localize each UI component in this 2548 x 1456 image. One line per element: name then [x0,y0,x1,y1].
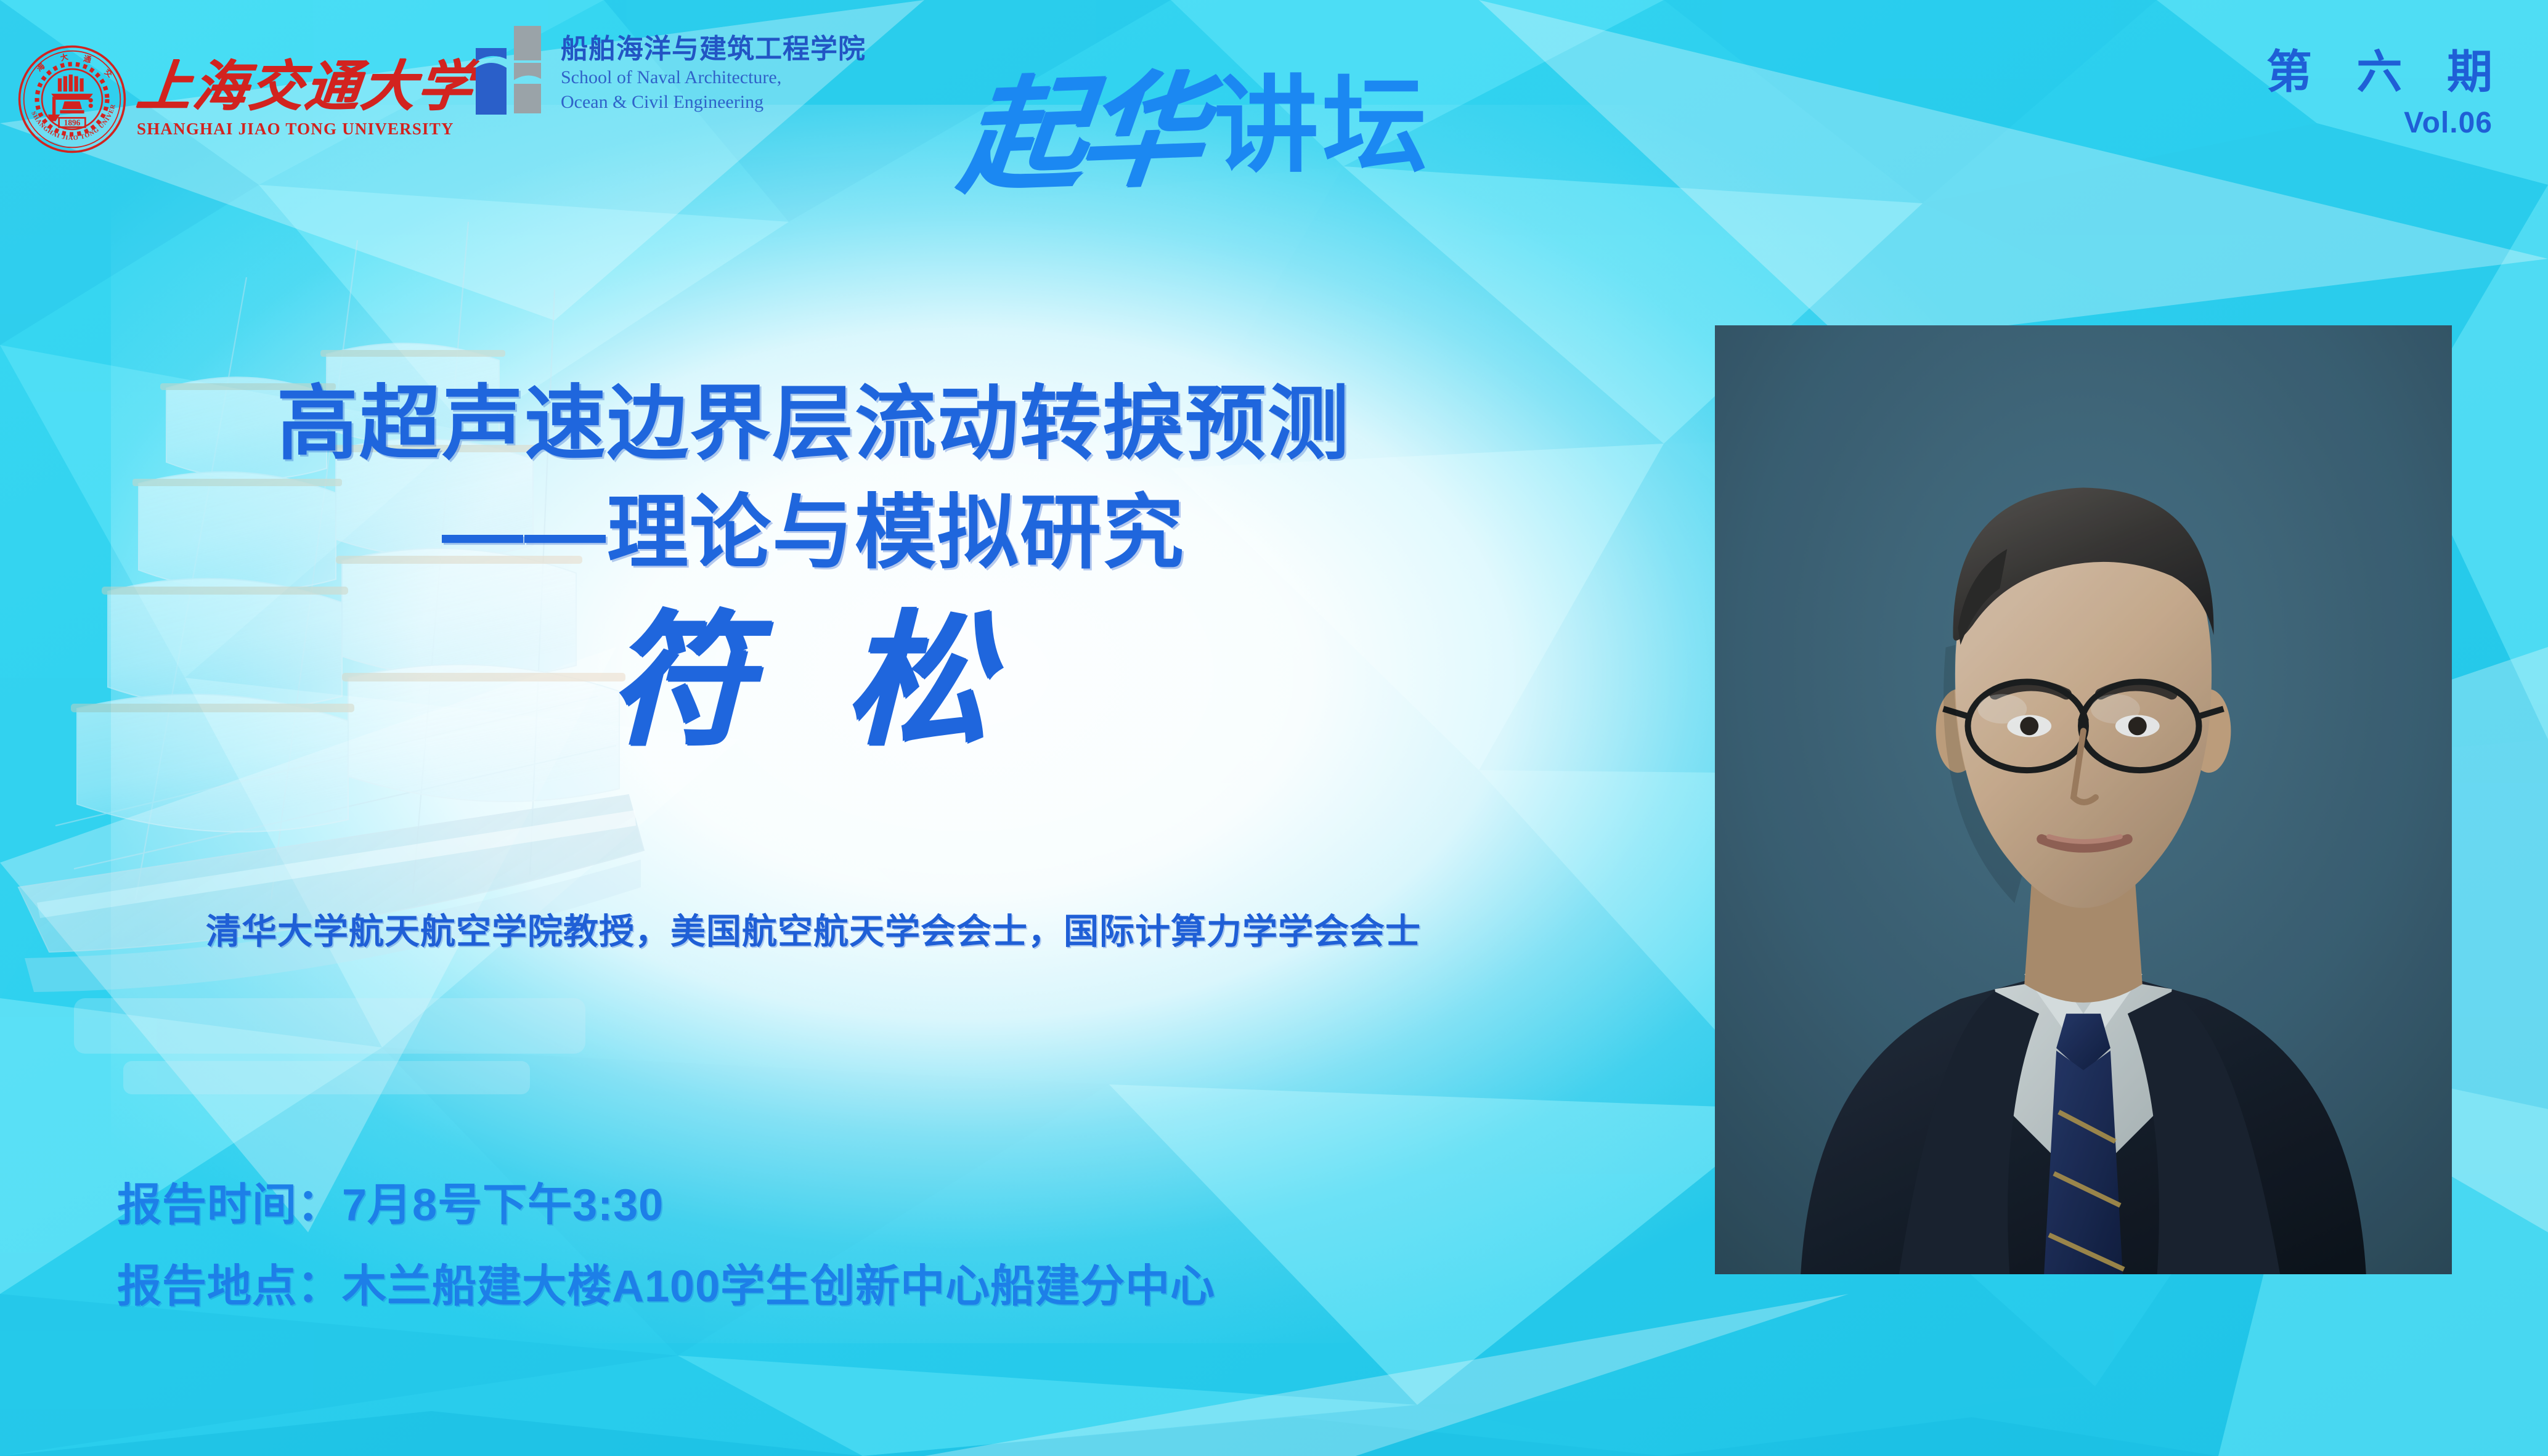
lecture-title-line2: ——理论与模拟研究 [0,479,1627,588]
lecture-title-line1: 高超声速边界层流动转捩预测 [277,378,1350,469]
speaker-portrait [1715,325,2452,1274]
school-name-en-line2: Ocean & Civil Engineering [561,91,866,114]
school-name-cn: 船舶海洋与建筑工程学院 [561,35,866,64]
university-name-en: SHANGHAI JIAO TONG UNIVERSITY [137,120,454,139]
svg-text:通: 通 [83,54,92,65]
forum-brand-cursive: 起华 [954,72,1205,198]
university-lockup: 1896 海 大 通 交 SHANGHAI JIAO TONG UNIVERSI… [17,44,473,154]
school-lockup: 船舶海洋与建筑工程学院 School of Naval Architecture… [474,25,866,116]
university-name-cn: 上海交通大学 [134,60,476,115]
event-time: 报告时间：7月8号下午3:30 [117,1183,1215,1227]
naoce-mark-icon [474,25,547,116]
lecture-title: 高超声速边界层流动转捩预测 ——理论与模拟研究 [0,370,1627,588]
svg-text:交: 交 [103,67,115,79]
speaker-affiliation: 清华大学航天航空学院教授，美国航空航天学会会士，国际计算力学学会会士 [0,903,1627,954]
issue-badge: 第 六 期 Vol.06 [2266,49,2493,138]
svg-text:大: 大 [59,52,69,63]
forum-brand-block: 讲坛 [1214,74,1431,179]
event-details: 报告时间：7月8号下午3:30 报告地点：木兰船建大楼A100学生创新中心船建分… [117,1183,1215,1346]
speaker-name: 符松 [37,610,1651,755]
sjtu-seal-icon: 1896 海 大 通 交 SHANGHAI JIAO TONG UNIVERSI… [17,44,127,154]
issue-number-cn: 第 六 期 [2266,49,2509,95]
svg-text:1896: 1896 [64,118,81,128]
issue-number-en: Vol.06 [2266,108,2493,138]
event-place: 报告地点：木兰船建大楼A100学生创新中心船建分中心 [117,1264,1215,1309]
forum-brand-logo: 起华 讲坛 [961,74,1431,195]
school-name-en-line1: School of Naval Architecture, [561,67,866,89]
speaker-portrait-image [1715,325,2452,1274]
svg-text:海: 海 [35,61,46,73]
